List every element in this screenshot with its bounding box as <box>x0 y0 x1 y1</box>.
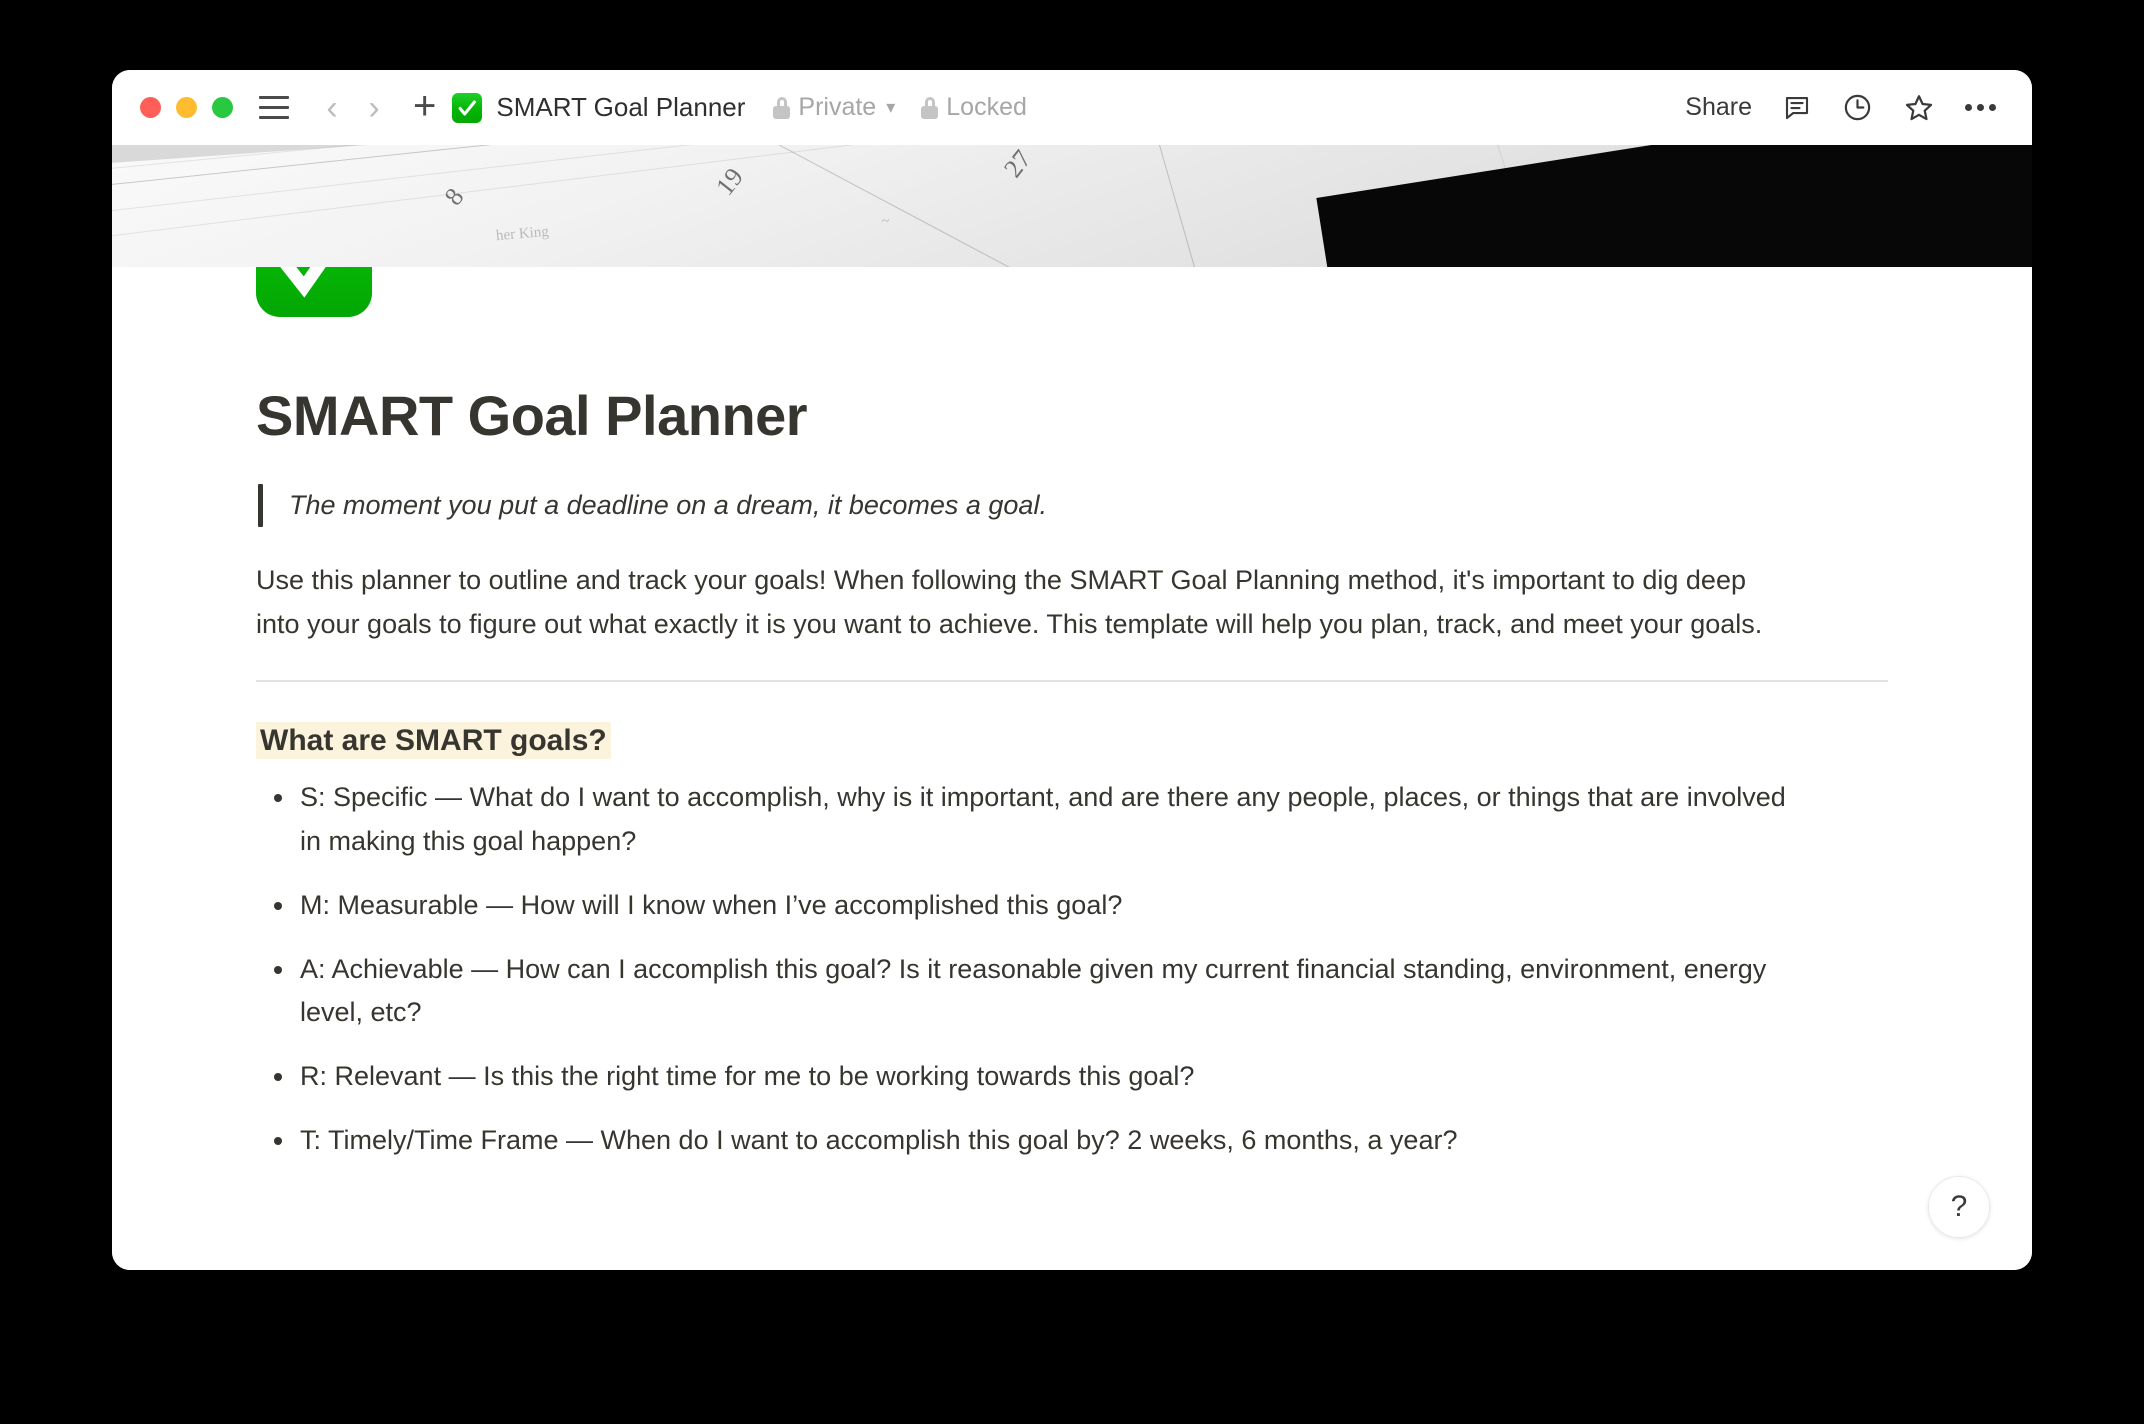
divider <box>256 680 1888 682</box>
lock-icon <box>773 97 790 119</box>
cover-scribble: ~ <box>879 212 900 231</box>
chevron-down-icon: ▾ <box>886 97 895 118</box>
locked-label: Locked <box>946 93 1027 122</box>
chevron-right-icon[interactable]: › <box>357 91 391 125</box>
app-window: ‹ › + SMART Goal Planner Private ▾ Locke… <box>112 70 2032 1270</box>
privacy-selector[interactable]: Private ▾ <box>773 93 895 122</box>
quote-text: The moment you put a deadline on a dream… <box>289 484 1047 527</box>
green-check-icon <box>452 93 482 123</box>
lock-icon <box>921 97 938 119</box>
document-title-breadcrumb[interactable]: SMART Goal Planner <box>496 92 745 123</box>
close-button[interactable] <box>140 97 161 118</box>
page-title[interactable]: SMART Goal Planner <box>256 385 1888 448</box>
page-emoji-icon[interactable] <box>256 267 372 317</box>
list-item[interactable]: S: Specific — What do I want to accompli… <box>256 776 1796 863</box>
clock-icon[interactable] <box>1842 92 1873 123</box>
locked-indicator[interactable]: Locked <box>921 93 1027 122</box>
cover-image[interactable]: 19 27 8 her King ~ <box>112 145 2032 267</box>
list-item[interactable]: A: Achievable — How can I accomplish thi… <box>256 948 1796 1035</box>
help-button[interactable]: ? <box>1928 1176 1990 1238</box>
star-icon[interactable] <box>1903 92 1935 124</box>
list-item[interactable]: M: Measurable — How will I know when I’v… <box>256 884 1796 928</box>
section-heading-text: What are SMART goals? <box>256 722 611 759</box>
title-bar: ‹ › + SMART Goal Planner Private ▾ Locke… <box>112 70 2032 145</box>
document-body: SMART Goal Planner The moment you put a … <box>112 267 2032 1270</box>
quote-block[interactable]: The moment you put a deadline on a dream… <box>256 484 1888 527</box>
smart-bullet-list: S: Specific — What do I want to accompli… <box>256 776 1888 1162</box>
intro-paragraph[interactable]: Use this planner to outline and track yo… <box>256 559 1786 646</box>
window-controls <box>140 97 233 118</box>
zoom-button[interactable] <box>212 97 233 118</box>
ellipsis-icon[interactable] <box>1965 104 1996 111</box>
list-item[interactable]: T: Timely/Time Frame — When do I want to… <box>256 1119 1796 1163</box>
hamburger-icon[interactable] <box>259 93 293 123</box>
comment-icon[interactable] <box>1782 93 1812 123</box>
section-heading[interactable]: What are SMART goals? <box>256 724 611 758</box>
privacy-label: Private <box>798 93 876 122</box>
minimize-button[interactable] <box>176 97 197 118</box>
quote-bar <box>258 484 263 527</box>
plus-icon[interactable]: + <box>413 86 436 130</box>
titlebar-actions: Share <box>1685 92 1996 124</box>
share-button[interactable]: Share <box>1685 93 1752 122</box>
document-content: SMART Goal Planner The moment you put a … <box>112 267 2032 1162</box>
chevron-left-icon[interactable]: ‹ <box>315 91 349 125</box>
list-item[interactable]: R: Relevant — Is this the right time for… <box>256 1055 1796 1099</box>
